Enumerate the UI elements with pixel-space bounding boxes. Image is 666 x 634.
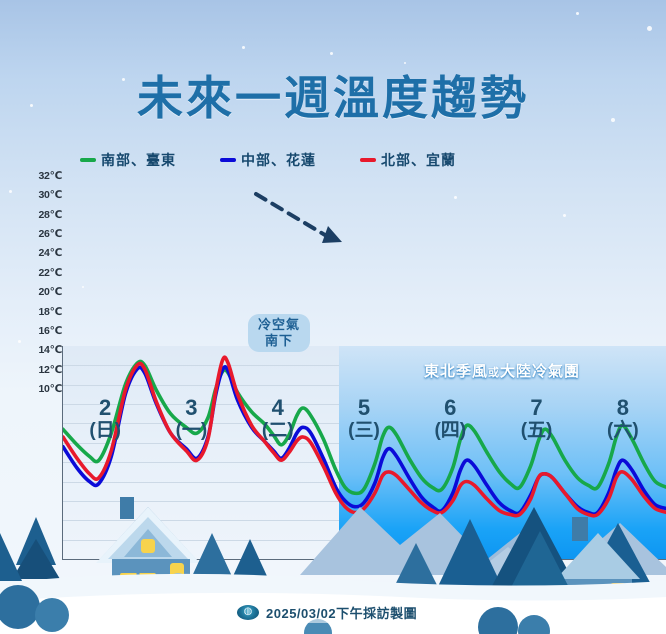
x-tick-day-7: 7(五) <box>493 396 579 454</box>
cold-air-line-1: 冷空氣 <box>248 317 310 333</box>
legend-label-central-hualien: 中部、花蓮 <box>241 150 316 170</box>
cold-air-line-2: 南下 <box>248 333 310 349</box>
snowflake <box>647 26 652 31</box>
legend-label-south-taitung: 南部、臺東 <box>101 150 176 170</box>
banner-text-b: 大陸冷氣團 <box>500 363 580 380</box>
legend-swatch-central-hualien <box>220 158 236 162</box>
x-weekday: (四) <box>407 419 493 443</box>
legend-label-north-yilan: 北部、宜蘭 <box>381 150 456 170</box>
x-weekday: (一) <box>148 419 234 443</box>
chimney-left <box>120 497 134 519</box>
x-tick-day-5: 5(三) <box>321 396 407 454</box>
x-tick-day-4: 4(二) <box>235 396 321 454</box>
x-tick-day-2: 2(日) <box>62 396 148 454</box>
snowflake <box>242 46 245 49</box>
legend-item-central-hualien: 中部、花蓮 <box>220 150 316 170</box>
banner-text-a: 東北季風 <box>424 363 488 380</box>
x-day: 6 <box>407 396 493 419</box>
x-day: 8 <box>580 396 666 419</box>
monsoon-banner: 東北季風或大陸冷氣團 <box>338 360 666 381</box>
x-day: 4 <box>235 396 321 419</box>
x-day: 3 <box>148 396 234 419</box>
x-day: 5 <box>321 396 407 419</box>
snowflake <box>330 52 333 55</box>
footer-text: 2025/03/02下午採訪製圖 <box>266 603 417 622</box>
footer-credit: ◍ 2025/03/02下午採訪製圖 <box>233 601 427 623</box>
x-day: 7 <box>493 396 579 419</box>
x-tick-day-3: 3(一) <box>148 396 234 454</box>
x-weekday: (六) <box>580 419 666 443</box>
x-weekday: (三) <box>321 419 407 443</box>
x-day: 2 <box>62 396 148 419</box>
snowflake <box>576 12 579 15</box>
x-axis-labels: 2(日)3(一)4(二)5(三)6(四)7(五)8(六) <box>62 396 666 454</box>
window-left-gable <box>141 539 155 553</box>
legend-item-south-taitung: 南部、臺東 <box>80 150 176 170</box>
x-weekday: (二) <box>235 419 321 443</box>
x-weekday: (日) <box>62 419 148 443</box>
x-weekday: (五) <box>493 419 579 443</box>
chart-legend: 南部、臺東中部、花蓮北部、宜蘭 <box>80 150 500 170</box>
x-tick-day-8: 8(六) <box>580 396 666 454</box>
legend-swatch-south-taitung <box>80 158 96 162</box>
banner-text-or: 或 <box>488 367 500 379</box>
chimney-right <box>572 517 588 541</box>
cold-air-annotation: 冷空氣 南下 <box>248 314 310 352</box>
downward-trend-arrow-icon <box>250 188 346 250</box>
page-title: 未來一週溫度趨勢 <box>0 62 666 128</box>
x-tick-day-6: 6(四) <box>407 396 493 454</box>
legend-swatch-north-yilan <box>360 158 376 162</box>
legend-item-north-yilan: 北部、宜蘭 <box>360 150 456 170</box>
cwa-logo-icon: ◍ <box>237 605 259 620</box>
bush-2 <box>35 598 69 632</box>
